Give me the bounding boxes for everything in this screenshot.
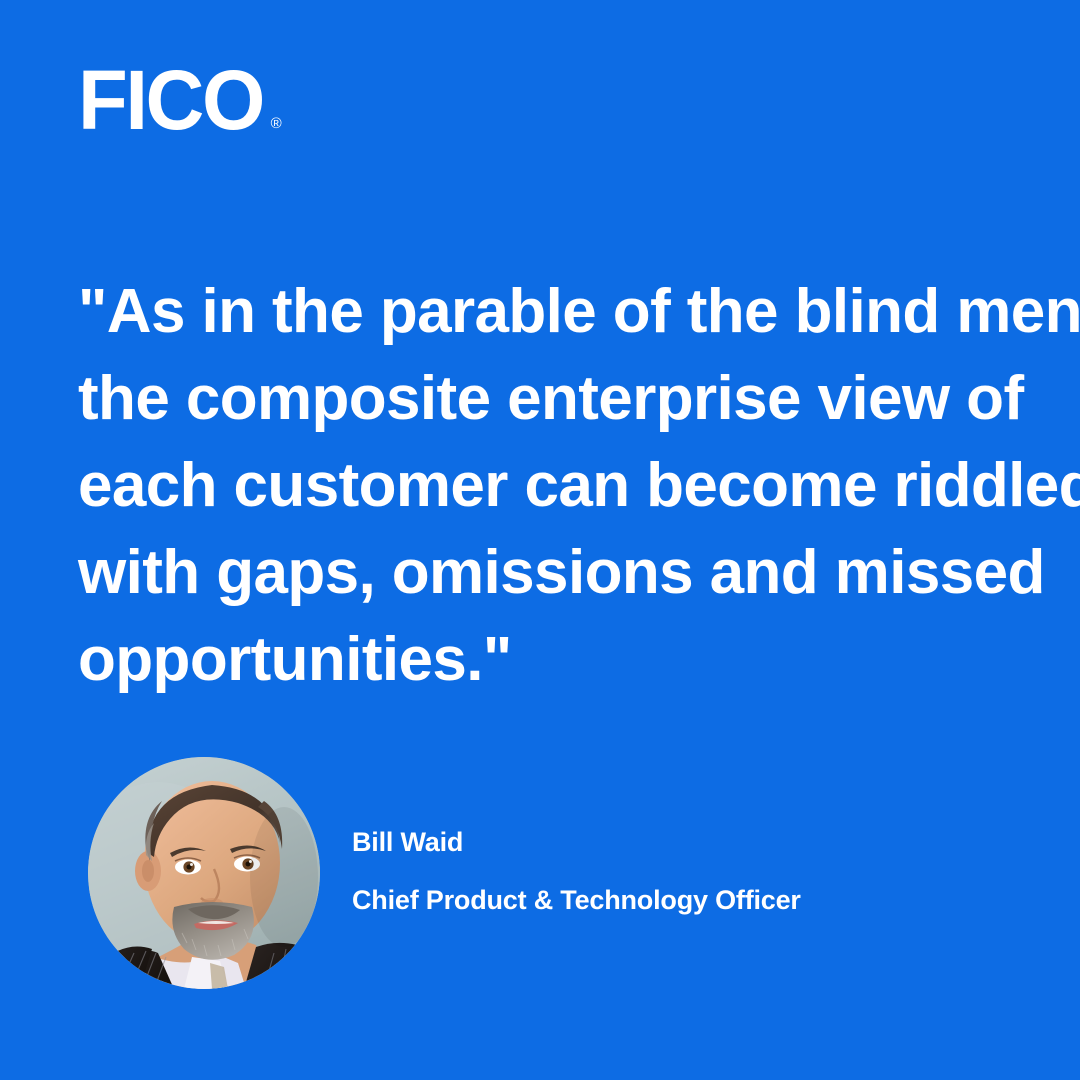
quote-line: opportunities." bbox=[78, 616, 1008, 703]
quote-card: FICO ® "As in the parable of the blind m… bbox=[0, 0, 1080, 1080]
speaker-name: Bill Waid bbox=[352, 826, 801, 858]
fico-wordmark: FICO bbox=[78, 66, 263, 135]
quote-line: with gaps, omissions and missed bbox=[78, 529, 1008, 616]
avatar-portrait-icon bbox=[88, 757, 320, 989]
quote-text: "As in the parable of the blind men, the… bbox=[78, 268, 1008, 703]
attribution-text: Bill Waid Chief Product & Technology Off… bbox=[352, 826, 801, 921]
quote-line: each customer can become riddled bbox=[78, 442, 1008, 529]
fico-logo: FICO ® bbox=[78, 66, 282, 135]
quote-line: "As in the parable of the blind men, bbox=[78, 268, 1008, 355]
registered-trademark-icon: ® bbox=[271, 116, 282, 131]
quote-line: the composite enterprise view of bbox=[78, 355, 1008, 442]
attribution-block: Bill Waid Chief Product & Technology Off… bbox=[88, 757, 801, 989]
avatar bbox=[88, 757, 320, 989]
speaker-title: Chief Product & Technology Officer bbox=[352, 884, 801, 916]
